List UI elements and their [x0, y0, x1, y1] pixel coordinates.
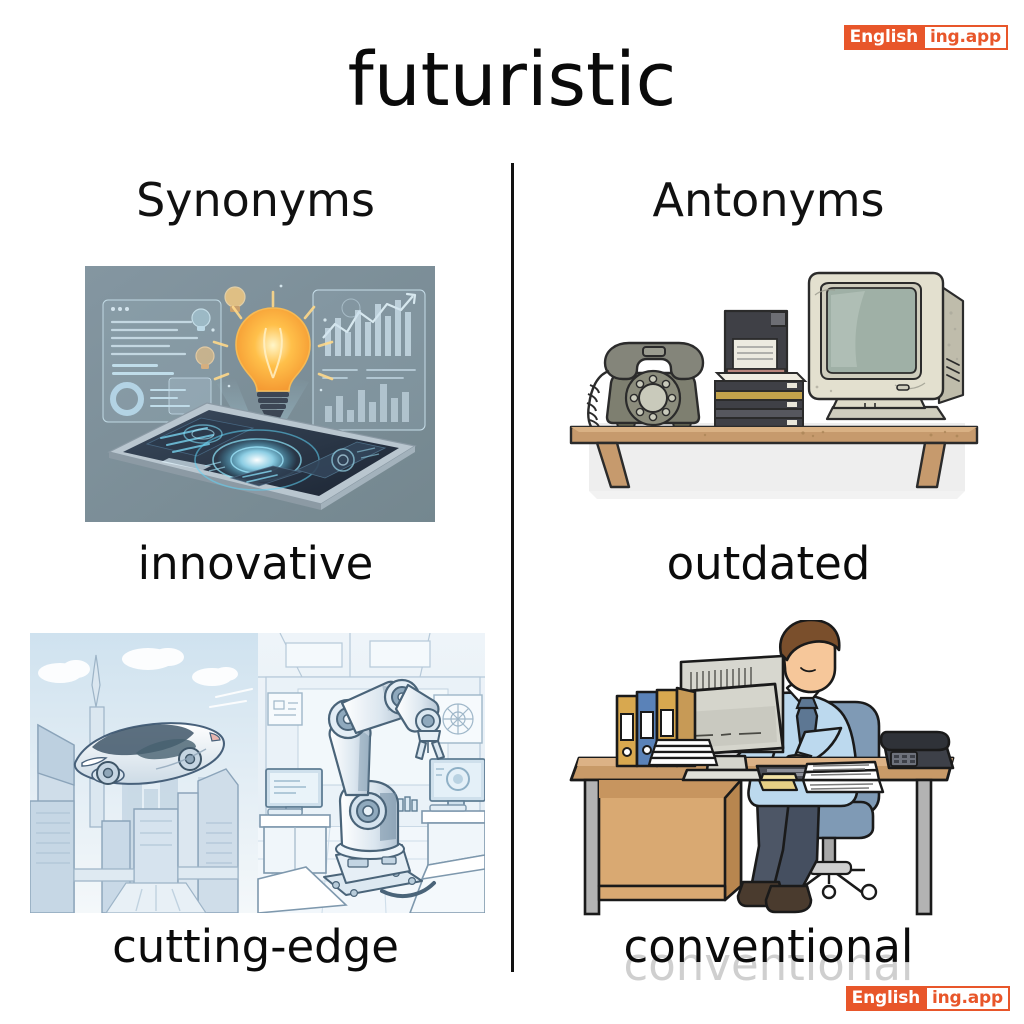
flying-car-city-and-robotic-arm-lab-illustration — [30, 633, 485, 913]
card-innovative[interactable]: innovative — [0, 255, 511, 605]
card-label-outdated: outdated — [513, 537, 1024, 591]
office-worker-at-desk-with-crt-computer-illustration — [561, 620, 981, 928]
card-label-cutting-edge: cutting-edge — [0, 920, 511, 974]
column-heading-synonyms: Synonyms — [0, 172, 511, 228]
card-conventional[interactable]: conventional conventional — [513, 620, 1024, 990]
card-label-innovative: innovative — [0, 537, 511, 591]
rotary-phone-floppy-disks-crt-monitor-on-shelf-illustration — [565, 255, 985, 517]
vocabulary-card: English ing.app futuristic Synonyms Anto… — [0, 0, 1024, 1024]
column-heading-antonyms: Antonyms — [513, 172, 1024, 228]
card-cutting-edge[interactable]: cutting-edge — [0, 620, 511, 990]
brand-word-english-bottom: English — [846, 986, 925, 1011]
brand-word-ingapp-bottom: ing.app — [925, 986, 1010, 1011]
tablet-lightbulb-gears-charts-illustration — [85, 266, 435, 522]
brand-logo-bottom[interactable]: English ing.app — [846, 985, 1010, 1011]
card-outdated[interactable]: outdated — [513, 255, 1024, 605]
card-label-conventional: conventional — [513, 920, 1024, 974]
page-title: futuristic — [0, 38, 1024, 122]
